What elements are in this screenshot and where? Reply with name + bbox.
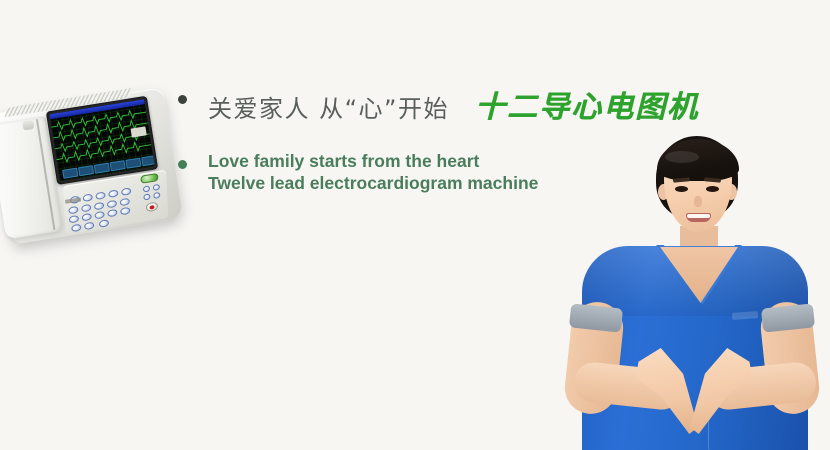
nurse-photo xyxy=(556,134,828,450)
keypad-key xyxy=(95,191,105,200)
keypad-key xyxy=(81,204,91,213)
chinese-product-name: 十二导心电图机 xyxy=(475,82,699,126)
ecg-footer-item xyxy=(125,158,141,169)
keypad-key xyxy=(68,206,78,215)
keypad-key xyxy=(84,222,94,231)
keypad-key xyxy=(120,198,130,207)
keypad-key xyxy=(120,207,130,216)
chinese-tagline-row: 关爱家人 从“心”开始 十二导心电图机 xyxy=(178,82,718,126)
english-text-group: Love family starts from the heart Twelve… xyxy=(208,150,538,194)
keypad-key xyxy=(107,200,117,209)
keypad-key xyxy=(121,187,131,196)
nurse-eye-left xyxy=(675,186,688,192)
ecg-footer-item xyxy=(94,163,110,174)
keypad-key xyxy=(153,184,160,191)
bullet-icon xyxy=(178,95,187,104)
keypad-key xyxy=(99,219,109,228)
keypad-stop-button xyxy=(146,201,158,212)
keypad-start-button xyxy=(140,173,158,184)
keypad-key xyxy=(82,213,92,222)
ecg-footer-item xyxy=(78,165,94,176)
nurse-eye-right xyxy=(706,186,719,192)
keypad-key xyxy=(143,193,150,200)
keypad-key xyxy=(143,185,150,192)
ecg-footer-item xyxy=(110,160,126,171)
nurse-teeth xyxy=(687,214,710,219)
ecg-footer-item xyxy=(62,168,78,179)
device-lid-latch xyxy=(22,120,34,131)
english-tagline-line-2: Twelve lead electrocardiogram machine xyxy=(208,172,538,194)
keypad-key xyxy=(94,202,104,211)
keypad-key xyxy=(94,211,104,220)
bullet-icon xyxy=(178,160,187,169)
ecg-display xyxy=(49,99,154,181)
keypad-key xyxy=(83,193,93,202)
keypad-key xyxy=(107,209,117,218)
keypad-key xyxy=(69,215,79,224)
english-tagline-line-1: Love family starts from the heart xyxy=(208,150,538,172)
keypad-key xyxy=(108,189,118,198)
ecg-footer-item xyxy=(141,155,155,166)
chinese-text-group: 关爱家人 从“心”开始 十二导心电图机 xyxy=(208,82,699,126)
device-screen-bezel xyxy=(46,96,158,185)
nurse-smile xyxy=(686,213,711,222)
chinese-tagline: 关爱家人 从“心”开始 xyxy=(208,89,449,124)
keypad-key xyxy=(153,192,160,199)
keypad-key xyxy=(71,224,81,233)
ecg-machine-image xyxy=(0,78,191,255)
product-banner: 关爱家人 从“心”开始 十二导心电图机 Love family starts f… xyxy=(0,0,830,450)
nurse-nose xyxy=(694,196,702,207)
